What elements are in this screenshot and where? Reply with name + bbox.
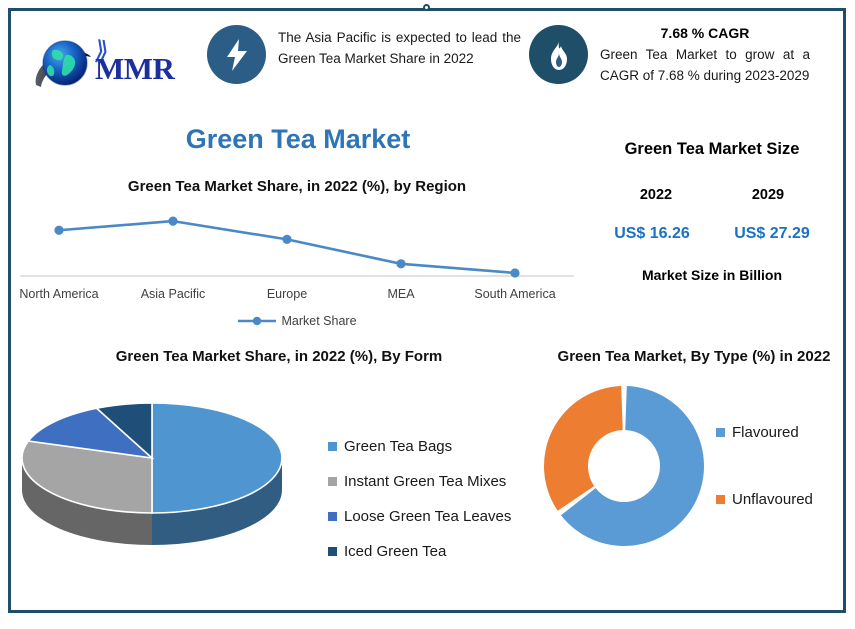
data-point-europe [282,235,291,244]
pie-chart-svg [14,382,314,552]
market-size-title: Green Tea Market Size [586,140,838,159]
donut-slice-unflavoured [544,386,623,511]
chart-legend-type: FlavouredUnflavoured [708,422,840,510]
legend-swatch-icon [328,547,337,556]
legend-item: Unflavoured [716,489,840,510]
line-chart-svg [14,207,580,285]
legend-swatch-icon [328,512,337,521]
legend-item: Green Tea Bags [328,436,544,457]
x-tick-label: South America [474,287,555,301]
chart-form-pie: Green Tea Market Share, in 2022 (%), By … [14,340,544,610]
market-size-value-2022: US$ 16.26 [614,225,690,243]
chart-legend-form: Green Tea BagsInstant Green Tea MixesLoo… [314,382,544,576]
x-tick-label: Europe [267,287,307,301]
legend-item: Loose Green Tea Leaves [328,506,544,527]
legend-label: Unflavoured [732,489,813,510]
legend-item: Flavoured [716,422,840,443]
market-size-year-2022: 2022 [640,187,672,203]
donut-chart-svg [540,378,708,553]
brand-name: MMR [95,51,174,87]
legend-swatch-icon [716,428,725,437]
legend-label: Flavoured [732,422,799,443]
legend-swatch-icon [328,477,337,486]
globe-icon [33,35,103,97]
line-plot-area [14,207,580,285]
data-point-asia-pacific [168,217,177,226]
chart-title-region: Green Tea Market Share, in 2022 (%), by … [14,178,580,195]
cagr-block: 7.68 % CAGR Green Tea Market to grow at … [600,25,810,86]
x-tick-label: Asia Pacific [141,287,206,301]
chart-title-form: Green Tea Market Share, in 2022 (%), By … [69,346,489,368]
legend-swatch-icon [716,495,725,504]
data-point-south-america [510,268,519,277]
legend-label: Green Tea Bags [344,436,452,457]
cagr-text: Green Tea Market to grow at a CAGR of 7.… [600,44,810,86]
chart-title-type: Green Tea Market, By Type (%) in 2022 [548,346,840,368]
pie-plot-area [14,382,314,552]
market-size-value-2029: US$ 27.29 [734,225,810,243]
chart-type-donut: Green Tea Market, By Type (%) in 2022 Fl… [548,340,840,610]
chart-legend-region: Market Share [14,314,580,328]
brand-logo[interactable]: ⟫ MMR [11,11,207,115]
chart-region-line: Green Tea Market Share, in 2022 (%), by … [14,178,580,330]
legend-item: Iced Green Tea [328,541,544,562]
data-point-north-america [54,226,63,235]
legend-label: Loose Green Tea Leaves [344,506,511,527]
legend-line-marker-icon [237,315,277,327]
header-fact-asia-pacific: The Asia Pacific is expected to lead the… [207,11,521,84]
chart-x-axis-labels: North AmericaAsia PacificEuropeMEASouth … [14,287,580,309]
cagr-title: 7.68 % CAGR [600,25,810,41]
header-band: ⟫ MMR The Asia Pacific is expected to le… [11,11,843,115]
market-size-values: US$ 16.26 US$ 27.29 [586,225,838,243]
legend-label-market-share: Market Share [281,314,356,328]
header-fact-text: The Asia Pacific is expected to lead the… [278,25,521,69]
x-tick-label: North America [19,287,98,301]
market-size-years: 2022 2029 [586,187,838,203]
market-size-panel: Green Tea Market Size 2022 2029 US$ 16.2… [586,132,838,327]
legend-item: Instant Green Tea Mixes [328,471,544,492]
donut-plot-area [540,378,708,553]
data-point-mea [396,259,405,268]
flame-icon [529,25,588,84]
x-tick-label: MEA [387,287,414,301]
line-series-market-share [59,221,515,273]
legend-label: Iced Green Tea [344,541,446,562]
header-fact-cagr: 7.68 % CAGR Green Tea Market to grow at … [521,11,843,86]
infographic-root: ⟫ MMR The Asia Pacific is expected to le… [0,0,855,629]
market-size-year-2029: 2029 [752,187,784,203]
lightning-bolt-icon [207,25,266,84]
market-size-footnote: Market Size in Billion [586,267,838,283]
frame-handle[interactable] [423,4,430,11]
legend-label: Instant Green Tea Mixes [344,471,506,492]
legend-swatch-icon [328,442,337,451]
page-title: Green Tea Market [18,124,578,155]
